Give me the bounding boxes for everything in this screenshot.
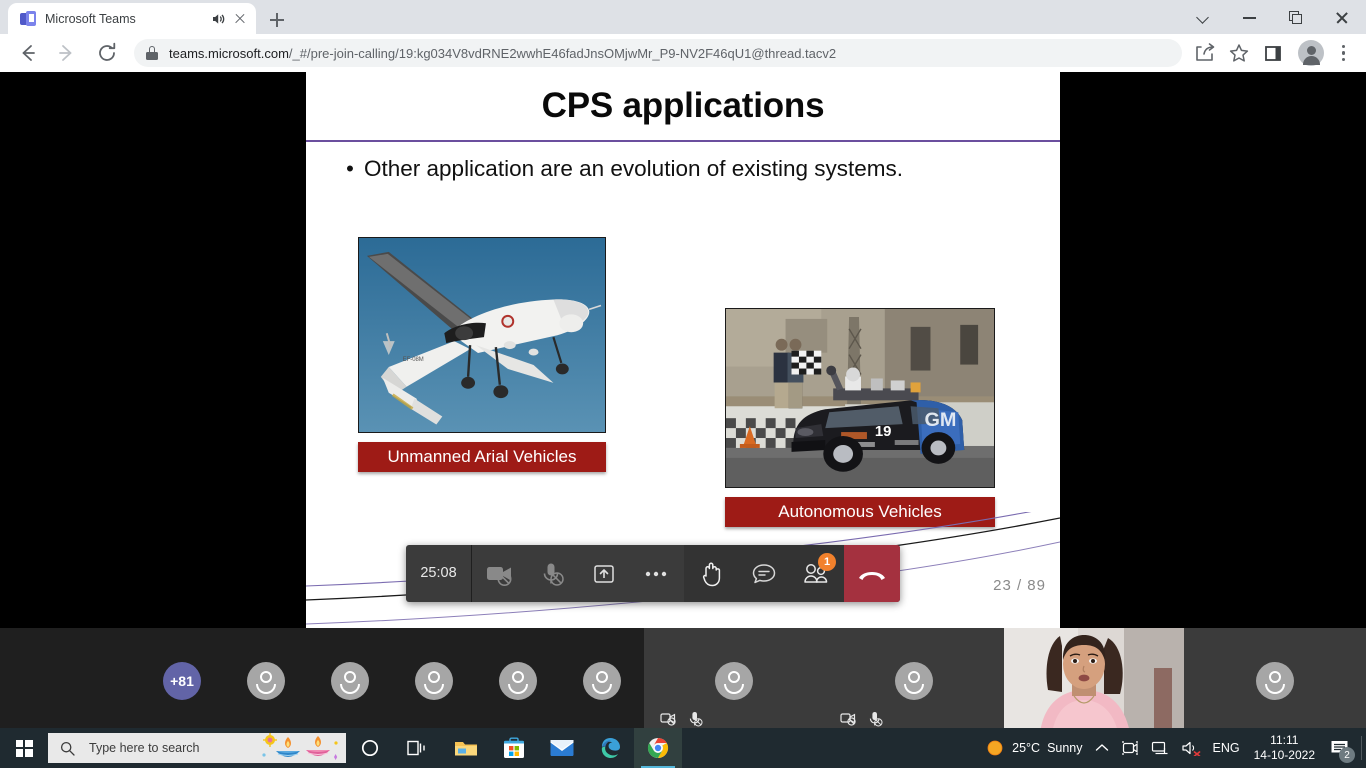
- sun-icon: [986, 739, 1004, 757]
- microphone-off-icon[interactable]: [526, 545, 578, 602]
- url-path: /_#/pre-join-calling/19:kg034V8vdRNE2wwh…: [289, 46, 836, 61]
- action-center-icon[interactable]: 2: [1323, 728, 1357, 768]
- page-viewport: CPS applications • Other application are…: [0, 72, 1366, 628]
- participant-tile[interactable]: [560, 628, 644, 733]
- microphone-off-icon: [868, 711, 883, 727]
- camera-off-icon[interactable]: [474, 545, 526, 602]
- meeting-primary-controls: [472, 545, 684, 602]
- task-view-icon[interactable]: [394, 728, 442, 768]
- bookmark-star-icon[interactable]: [1224, 38, 1254, 68]
- side-panel-icon[interactable]: [1258, 38, 1288, 68]
- url-text: teams.microsoft.com/_#/pre-join-calling/…: [169, 46, 836, 61]
- title-divider: [306, 140, 1060, 142]
- maximize-icon[interactable]: [1274, 0, 1320, 34]
- raise-hand-icon[interactable]: [686, 545, 738, 602]
- volume-muted-icon[interactable]: [1175, 728, 1207, 768]
- close-icon[interactable]: [232, 11, 248, 27]
- autonomous-vehicle-photo: 19 GM: [725, 308, 995, 488]
- people-badge: 1: [818, 553, 836, 571]
- bullet-marker: •: [336, 154, 364, 184]
- browser-tab[interactable]: Microsoft Teams: [8, 3, 256, 34]
- teams-icon: [20, 11, 36, 27]
- reload-icon[interactable]: [90, 36, 124, 70]
- participant-tile[interactable]: [476, 628, 560, 733]
- slide-bullet: • Other application are an evolution of …: [336, 154, 1036, 184]
- network-icon[interactable]: [1145, 728, 1175, 768]
- participant-video-feed: [1004, 628, 1184, 733]
- avatar: [415, 662, 453, 700]
- search-input[interactable]: Type here to search: [48, 733, 346, 763]
- avatar: [1256, 662, 1294, 700]
- share-screen-icon[interactable]: [578, 545, 630, 602]
- participant-tile[interactable]: [224, 628, 308, 733]
- participant-overflow-tile[interactable]: +81: [140, 628, 224, 733]
- svg-text:GM: GM: [925, 409, 957, 431]
- clock[interactable]: 11:11 14-10-2022: [1246, 733, 1323, 763]
- mail-icon[interactable]: [538, 728, 586, 768]
- share-icon[interactable]: [1190, 38, 1220, 68]
- minimize-icon[interactable]: [1228, 0, 1274, 34]
- system-tray: 25°C Sunny: [980, 728, 1366, 768]
- unmanned-aerial-vehicle-photo: EF-08M: [358, 237, 606, 433]
- chat-icon[interactable]: [738, 545, 790, 602]
- meeting-timer: 25:08: [406, 545, 472, 602]
- search-icon: [60, 741, 75, 756]
- meeting-secondary-controls: 1: [684, 545, 844, 602]
- desktop-screen: Microsoft Teams: [0, 0, 1366, 768]
- participant-tile[interactable]: [644, 628, 824, 733]
- clock-time: 11:11: [1254, 733, 1315, 748]
- avatar: [499, 662, 537, 700]
- windows-taskbar: Type here to search: [0, 728, 1366, 768]
- avatar: [715, 662, 753, 700]
- weather-condition-text: Sunny: [1047, 741, 1082, 755]
- close-icon[interactable]: [1320, 0, 1366, 34]
- figure-uav: EF-08M Unmanned Arial Vehicles: [358, 237, 606, 472]
- figure-caption: Unmanned Arial Vehicles: [358, 442, 606, 472]
- participant-tile[interactable]: [392, 628, 476, 733]
- overflow-count-badge: +81: [163, 662, 201, 700]
- camera-off-icon: [840, 712, 858, 726]
- new-tab-button[interactable]: [264, 7, 290, 33]
- show-desktop-button[interactable]: [1361, 736, 1362, 760]
- weather-widget[interactable]: 25°C Sunny: [980, 728, 1088, 768]
- lock-icon: [146, 46, 158, 60]
- svg-text:EF-08M: EF-08M: [403, 357, 424, 363]
- participant-tile[interactable]: [308, 628, 392, 733]
- profile-avatar[interactable]: [1298, 40, 1324, 66]
- participant-filmstrip: +81: [0, 628, 1366, 733]
- google-chrome-icon[interactable]: [634, 728, 682, 768]
- people-icon[interactable]: 1: [790, 545, 842, 602]
- arrow-right-icon[interactable]: [50, 36, 84, 70]
- notification-count: 2: [1339, 747, 1355, 763]
- participant-video-tile[interactable]: [1004, 628, 1184, 733]
- arrow-left-icon[interactable]: [10, 36, 44, 70]
- search-placeholder: Type here to search: [89, 741, 199, 755]
- filmstrip-spacer: [0, 628, 140, 733]
- chevron-up-icon[interactable]: [1089, 728, 1115, 768]
- language-indicator[interactable]: ENG: [1207, 728, 1246, 768]
- more-options-icon[interactable]: [630, 545, 682, 602]
- avatar: [583, 662, 621, 700]
- slide-title: CPS applications: [306, 86, 1060, 126]
- page-indicator: 23 / 89: [993, 577, 1046, 594]
- cortana-icon[interactable]: [346, 728, 394, 768]
- browser-toolbar: teams.microsoft.com/_#/pre-join-calling/…: [0, 34, 1366, 72]
- svg-text:19: 19: [875, 424, 892, 440]
- clock-date: 14-10-2022: [1254, 748, 1315, 763]
- tab-search-chevron-icon[interactable]: [1182, 0, 1228, 34]
- figure-caption: Autonomous Vehicles: [725, 497, 995, 527]
- camera-off-icon: [660, 712, 678, 726]
- tab-title: Microsoft Teams: [45, 12, 210, 26]
- hangup-icon: [857, 566, 887, 582]
- url-host: teams.microsoft.com: [169, 46, 289, 61]
- microsoft-edge-icon[interactable]: [586, 728, 634, 768]
- hangup-button[interactable]: [844, 545, 900, 602]
- figure-autonomous-vehicle: 19 GM: [725, 308, 995, 527]
- avatar: [331, 662, 369, 700]
- bullet-text: Other application are an evolution of ex…: [364, 154, 903, 184]
- window-controls: [1182, 0, 1366, 34]
- browser-tab-strip: Microsoft Teams: [0, 0, 1366, 34]
- meeting-control-bar: 25:08: [406, 545, 900, 602]
- windows-start-icon[interactable]: [0, 728, 48, 768]
- file-explorer-icon[interactable]: [442, 728, 490, 768]
- speaker-playing-icon[interactable]: [210, 11, 226, 27]
- participant-tile[interactable]: [1184, 628, 1366, 733]
- camera-icon[interactable]: [1115, 728, 1145, 768]
- microsoft-store-icon[interactable]: [490, 728, 538, 768]
- participant-tile[interactable]: [824, 628, 1004, 733]
- diwali-diya-lamps-icon: [256, 733, 342, 763]
- avatar: [895, 662, 933, 700]
- temperature-text: 25°C: [1012, 741, 1040, 755]
- kebab-menu-icon[interactable]: [1330, 40, 1356, 66]
- microphone-off-icon: [688, 711, 703, 727]
- avatar: [247, 662, 285, 700]
- address-bar[interactable]: teams.microsoft.com/_#/pre-join-calling/…: [134, 39, 1182, 67]
